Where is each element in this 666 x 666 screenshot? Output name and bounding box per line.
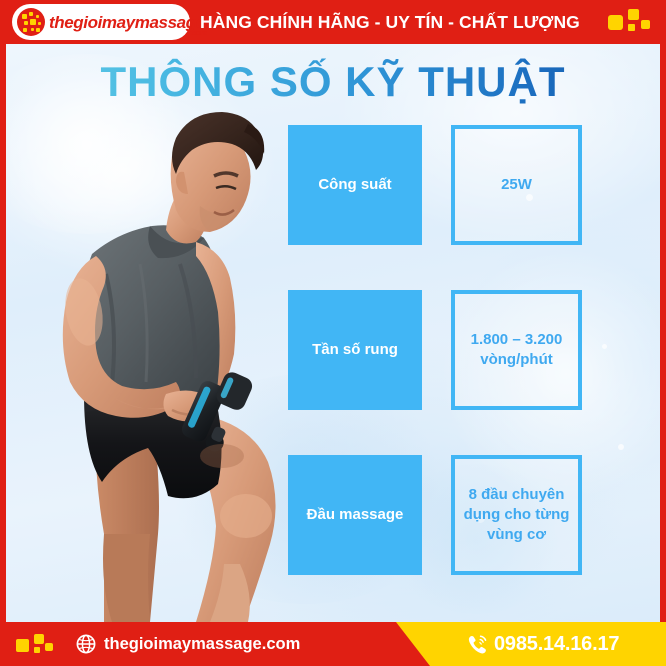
brand-logo-text: thegioimaymassage .com [49,14,205,31]
yellow-squares-decor-icon [608,9,652,35]
spec-label: Công suất [288,125,422,245]
phone-ringing-icon [467,634,489,655]
footer-bar: thegioimaymassage.com 0985.14.16.17 [0,622,666,666]
brand-logo[interactable]: thegioimaymassage .com [12,4,190,40]
spec-value: 8 đầu chuyên dụng cho từng vùng cơ [451,455,582,575]
footer-phone[interactable]: 0985.14.16.17 [494,622,619,666]
spec-row: Đầu massage 8 đầu chuyên dụng cho từng v… [288,455,588,575]
spec-label: Đầu massage [288,455,422,575]
spec-table: Công suất 25W Tần số rung 1.800 – 3.200 … [6,44,660,622]
dots-cluster-icon [17,8,45,36]
yellow-squares-decor-icon [16,634,56,656]
spec-row: Tần số rung 1.800 – 3.200 vòng/phút [288,290,588,410]
spec-label: Tần số rung [288,290,422,410]
spec-row: Công suất 25W [288,125,588,245]
footer-website[interactable]: thegioimaymassage.com [104,622,300,666]
brand-logo-name: thegioimaymassage [49,13,205,32]
header-bar: thegioimaymassage .com HÀNG CHÍNH HÃNG -… [0,0,666,44]
spec-value: 25W [451,125,582,245]
poster-frame: thegioimaymassage .com HÀNG CHÍNH HÃNG -… [0,0,666,666]
spec-value: 1.800 – 3.200 vòng/phút [451,290,582,410]
header-tagline: HÀNG CHÍNH HÃNG - UY TÍN - CHẤT LƯỢNG [200,0,580,44]
globe-icon [76,634,96,654]
content-area: THÔNG SỐ KỸ THUẬT [6,44,660,622]
